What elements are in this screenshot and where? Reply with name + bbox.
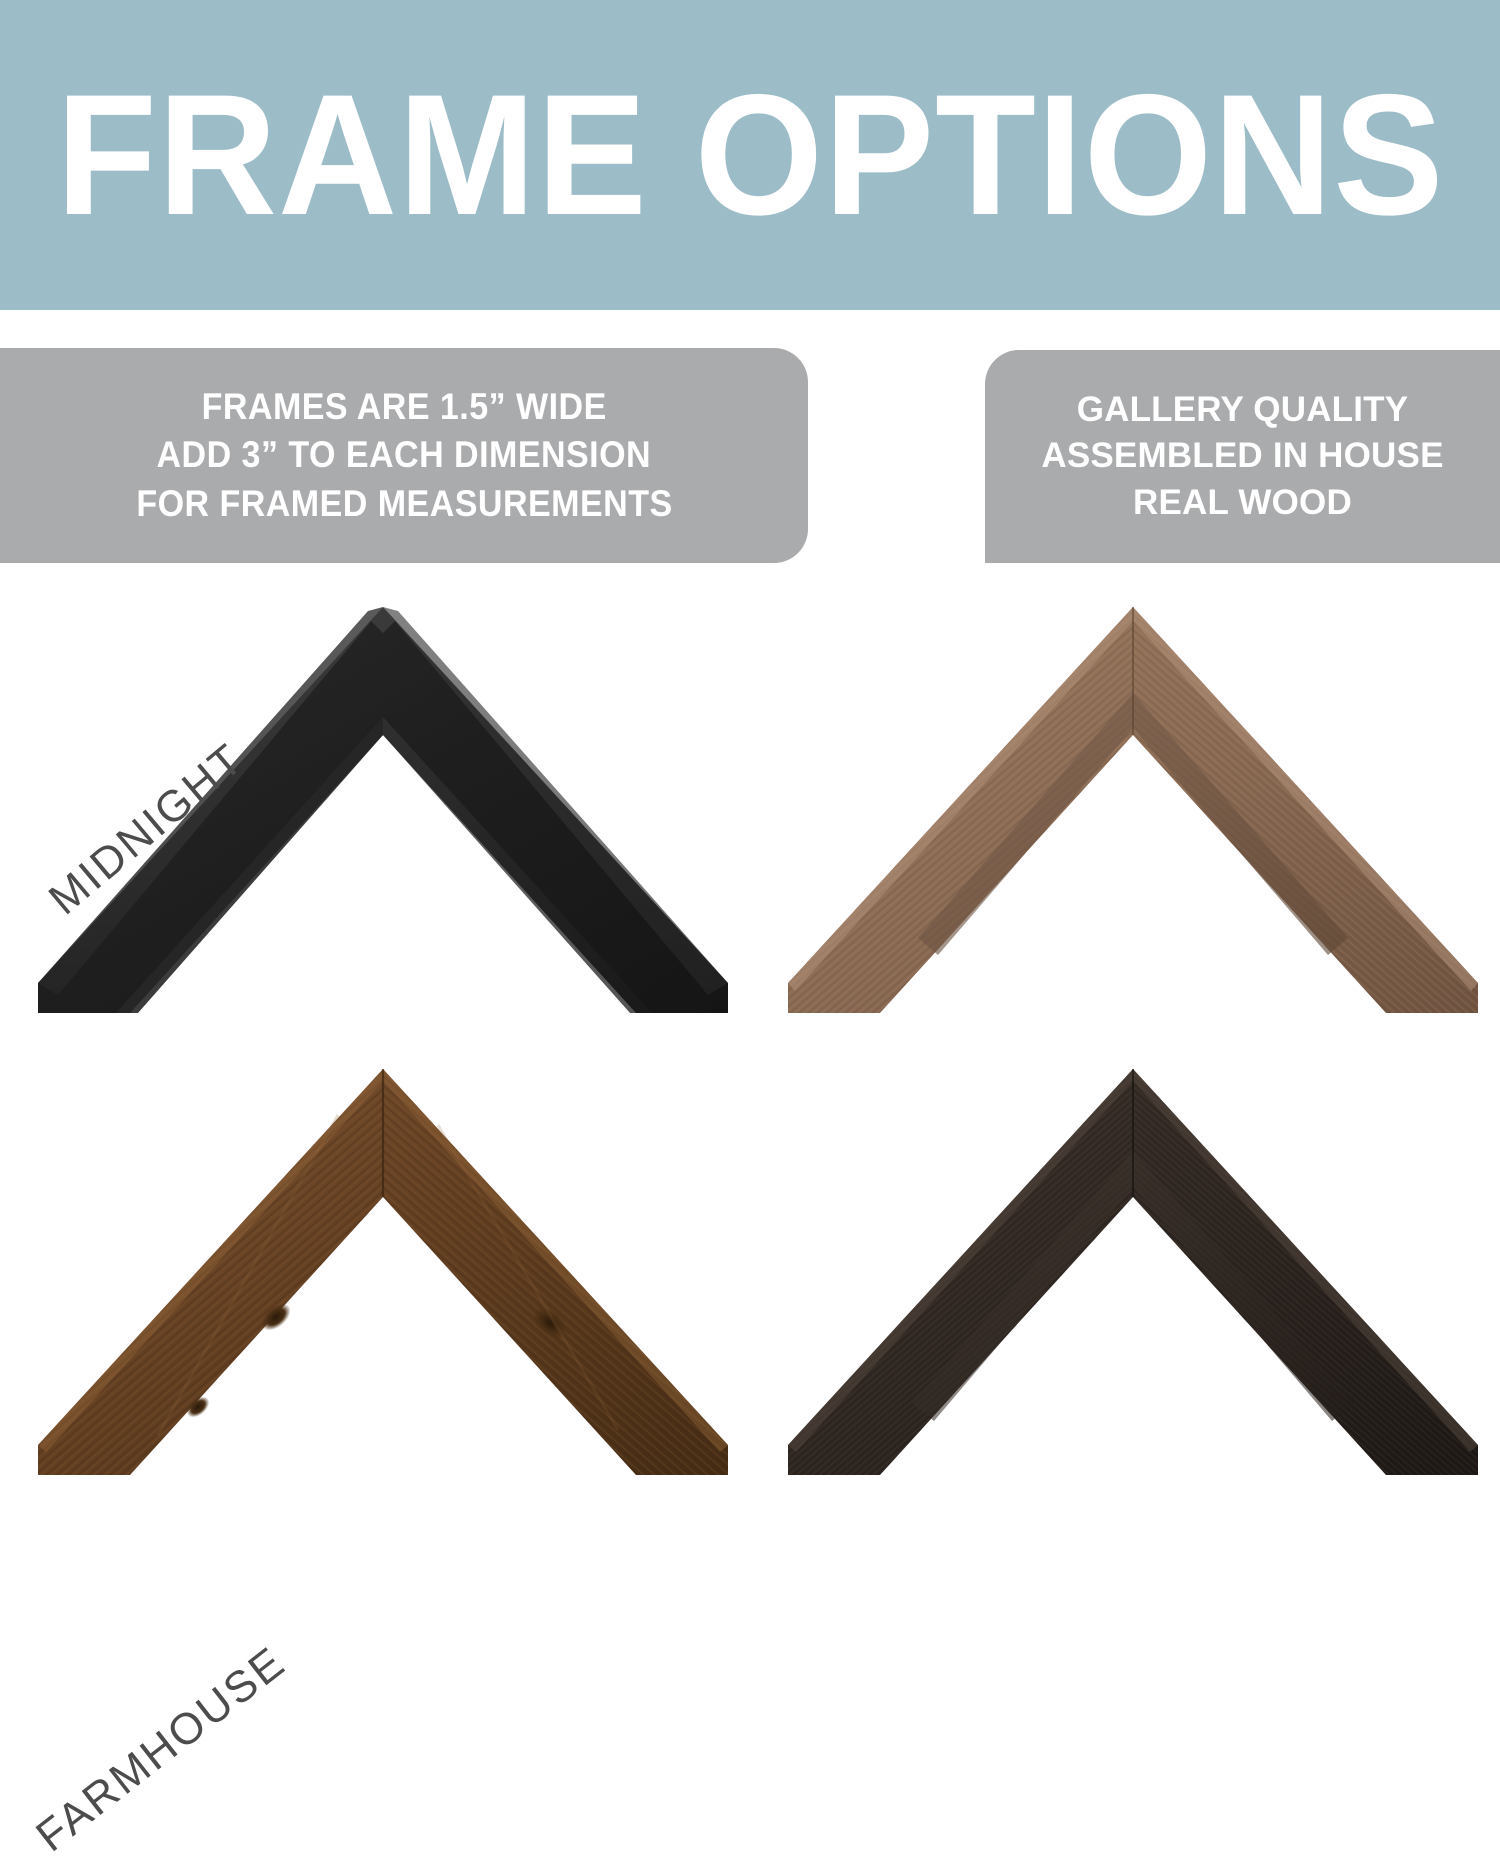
frame-corner-icon [788, 1055, 1478, 1475]
header-banner: FRAME OPTIONS [0, 0, 1500, 310]
frame-option-midnight[interactable]: MIDNIGHT [0, 575, 750, 1037]
info-line: FOR FRAMED MEASUREMENTS [136, 480, 672, 528]
page-title: FRAME OPTIONS [56, 69, 1445, 241]
frame-label-farmhouse: FARMHOUSE [27, 1637, 295, 1862]
info-banner-measurements: FRAMES ARE 1.5” WIDE ADD 3” TO EACH DIME… [0, 348, 808, 563]
info-line: ASSEMBLED IN HOUSE [1041, 433, 1443, 480]
info-line: GALLERY QUALITY [1077, 387, 1409, 434]
frame-option-farmhouse[interactable]: FARMHOUSE [0, 1037, 750, 1499]
info-line: ADD 3” TO EACH DIMENSION [157, 431, 652, 479]
frame-option-driftwood[interactable]: DRIFTWOOD [750, 575, 1500, 1037]
frame-option-charcoal[interactable]: CHARCOAL [750, 1037, 1500, 1499]
frame-options-grid: MIDNIGHT [0, 575, 1500, 1500]
frame-corner-icon [38, 1055, 728, 1475]
info-banner-quality: GALLERY QUALITY ASSEMBLED IN HOUSE REAL … [985, 350, 1500, 563]
info-line: REAL WOOD [1133, 480, 1352, 527]
frame-corner-icon [788, 593, 1478, 1013]
info-line: FRAMES ARE 1.5” WIDE [201, 383, 606, 431]
